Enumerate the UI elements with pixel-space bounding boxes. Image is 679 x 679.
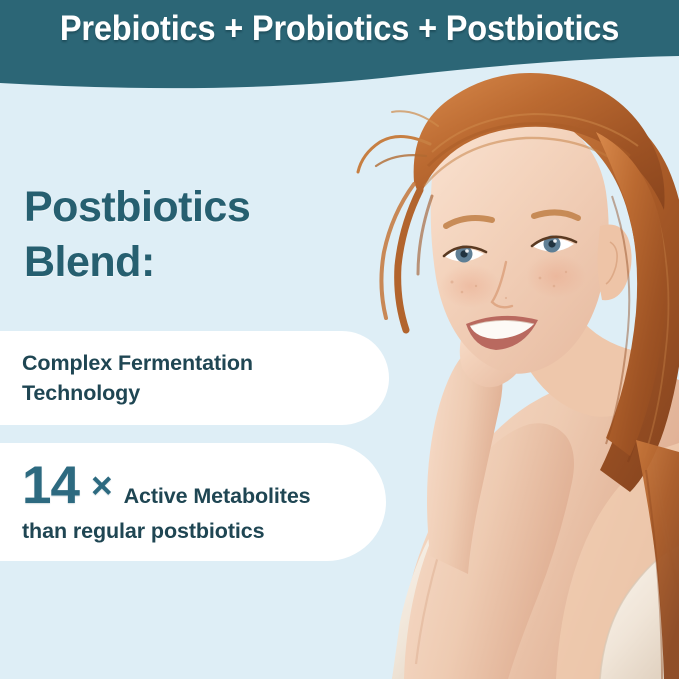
headline-line-2: Blend:: [24, 235, 250, 290]
product-infographic: Prebiotics + Probiotics + Postbiotics Po…: [0, 0, 679, 679]
feature-card-technology: Complex Fermentation Technology: [0, 331, 389, 425]
feature-card-metabolites: 14 × Active Metabolites than regular pos…: [0, 443, 386, 561]
header-title: Prebiotics + Probiotics + Postbiotics: [24, 9, 655, 49]
feature-card-text: Complex Fermentation Technology: [22, 348, 363, 408]
feature-card-line-1: Complex Fermentation: [22, 348, 363, 378]
headline-line-1: Postbiotics: [24, 180, 250, 235]
metric-label: Active Metabolites: [124, 486, 311, 508]
metric-subtext: than regular postbiotics: [22, 519, 364, 545]
metric-number: 14: [22, 459, 79, 512]
multiply-icon: ×: [91, 467, 113, 504]
feature-card-line-2: Technology: [22, 378, 363, 408]
metric-row: 14 × Active Metabolites: [22, 459, 364, 512]
page-headline: Postbiotics Blend:: [24, 180, 250, 290]
